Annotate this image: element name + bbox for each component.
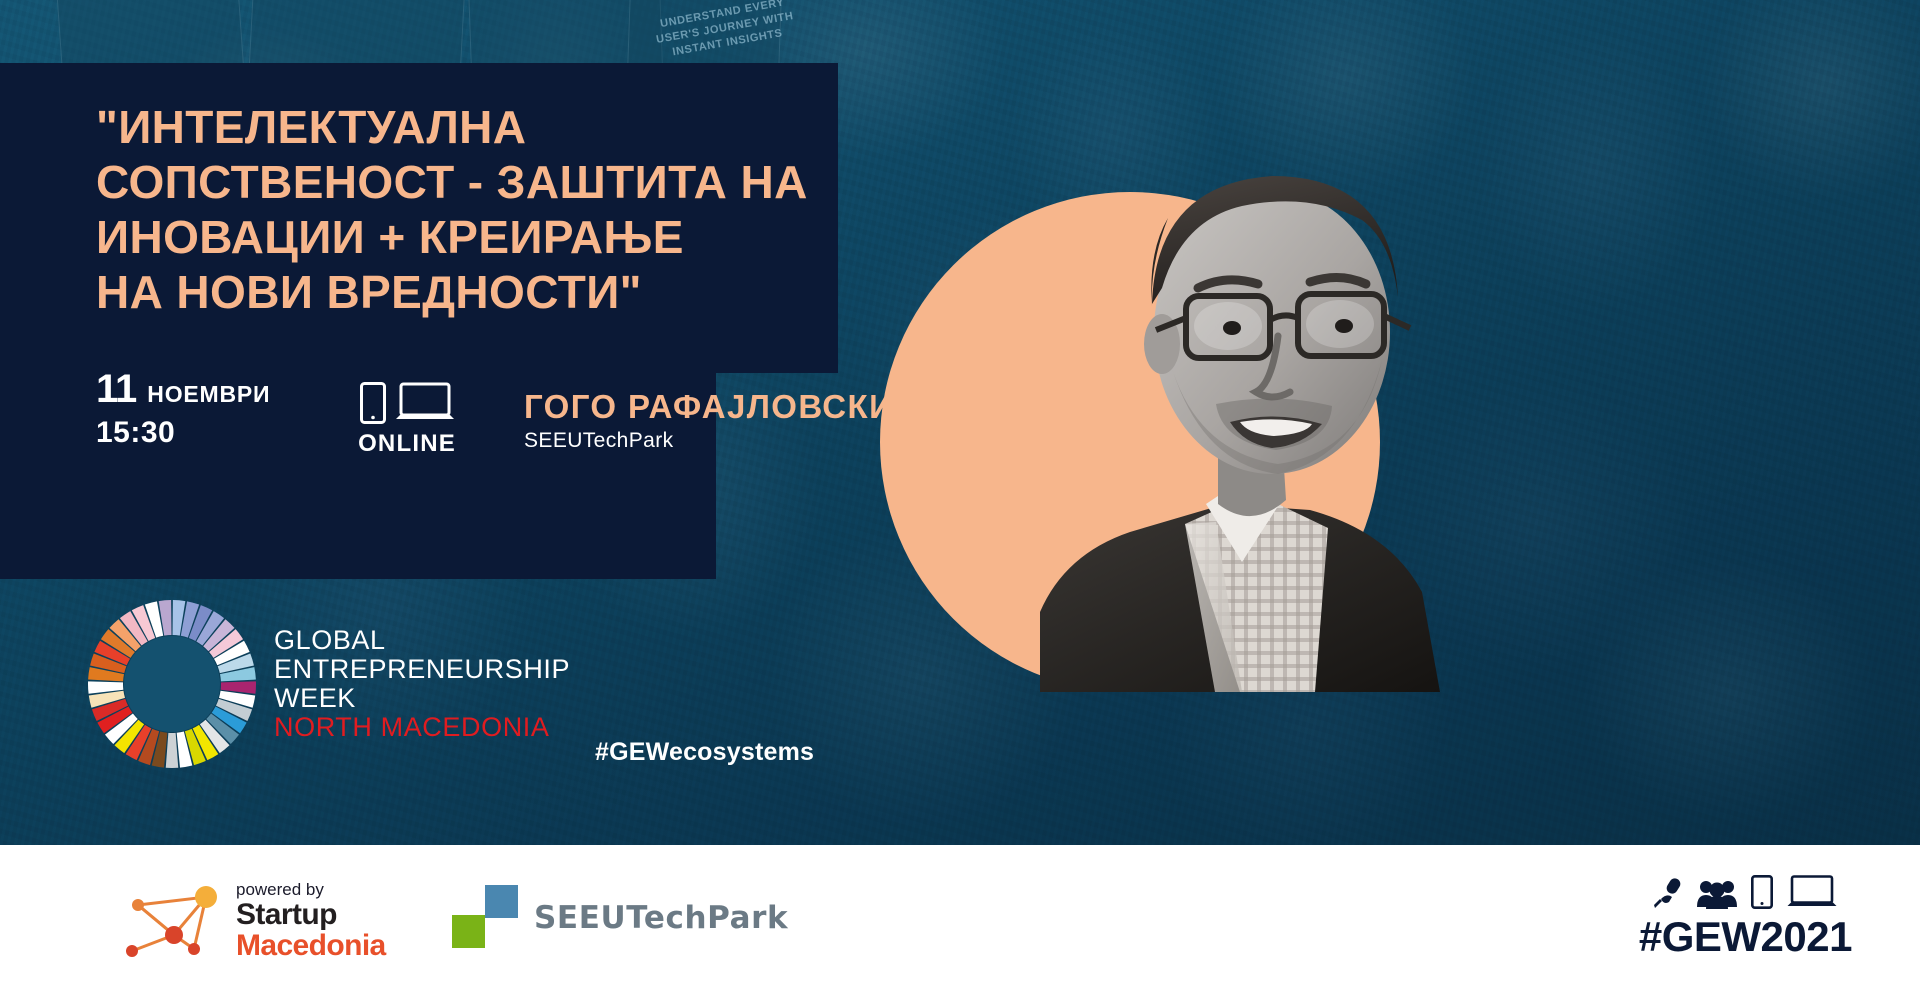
gew-line-north-macedonia: NORTH MACEDONIA: [274, 713, 570, 742]
people-icon: [1697, 879, 1737, 909]
gew-logo-ring: [88, 600, 256, 768]
gew-line-entrepreneurship: ENTREPRENEURSHIP: [274, 655, 570, 684]
title-line: СОПСТВЕНОСТ - ЗАШТИТА НА: [96, 155, 886, 210]
seeutechpark-squares-icon: [452, 885, 518, 951]
startup-macedonia-network-icon: [122, 875, 230, 967]
event-month: НОЕМВРИ: [147, 381, 270, 408]
gew2021-label: #GEW2021: [1639, 913, 1852, 961]
macedonia-label: Macedonia: [236, 930, 386, 961]
laptop-icon: [395, 382, 455, 424]
gew-ring-segment: [166, 733, 178, 768]
event-poster: UNDERSTAND EVERY USER'S JOURNEY WITH INS…: [0, 0, 1920, 1005]
seeutechpark-label: SEEUTechPark: [534, 900, 788, 936]
online-label: ONLINE: [352, 430, 462, 458]
event-day: 11: [96, 368, 136, 410]
footer-section: powered by Startup Macedonia SEEUTechPar…: [0, 845, 1920, 1005]
title-line: "ИНТЕЛЕКТУАЛНА: [96, 100, 886, 155]
page-title: "ИНТЕЛЕКТУАЛНА СОПСТВЕНОСТ - ЗАШТИТА НА …: [96, 100, 886, 320]
event-time: 15:30: [96, 416, 270, 450]
title-line: НА НОВИ ВРЕДНОСТИ": [96, 265, 886, 320]
startup-macedonia-logo: powered by Startup Macedonia: [122, 875, 386, 967]
tablet-icon: [360, 382, 386, 424]
laptop-icon: [1787, 875, 1837, 909]
speaker-name: ГОГО РАФАЈЛОВСКИ: [524, 388, 894, 426]
gew-ring-center: [124, 636, 220, 732]
gew-logo: GLOBAL ENTREPRENEURSHIP WEEK NORTH MACED…: [88, 600, 570, 768]
startup-label: Startup: [236, 899, 386, 930]
gew-line-week: WEEK: [274, 684, 570, 713]
tablet-icon: [1751, 875, 1773, 909]
title-line: ИНОВАЦИИ + КРЕИРАЊЕ: [96, 210, 886, 265]
online-badge: ONLINE: [352, 378, 462, 458]
gew-logo-text: GLOBAL ENTREPRENEURSHIP WEEK NORTH MACED…: [274, 626, 570, 742]
gew2021-block: #GEW2021: [1639, 869, 1852, 961]
event-date-block: 11 НОЕМВРИ 15:30: [96, 368, 270, 450]
hero-section: UNDERSTAND EVERY USER'S JOURNEY WITH INS…: [0, 0, 1920, 845]
speaker-organization: SEEUTechPark: [524, 429, 894, 453]
hashtag-ecosystems: #GEWecosystems: [595, 738, 814, 767]
speaker-portrait-illustration: [1010, 92, 1470, 692]
seeutechpark-logo: SEEUTechPark: [452, 885, 788, 951]
microphone-icon: [1653, 877, 1683, 909]
speaker-block: ГОГО РАФАЈЛОВСКИ SEEUTechPark: [524, 388, 894, 453]
speaker-portrait: [1010, 92, 1470, 692]
gew-line-global: GLOBAL: [274, 626, 570, 655]
powered-by-label: powered by: [236, 881, 386, 898]
